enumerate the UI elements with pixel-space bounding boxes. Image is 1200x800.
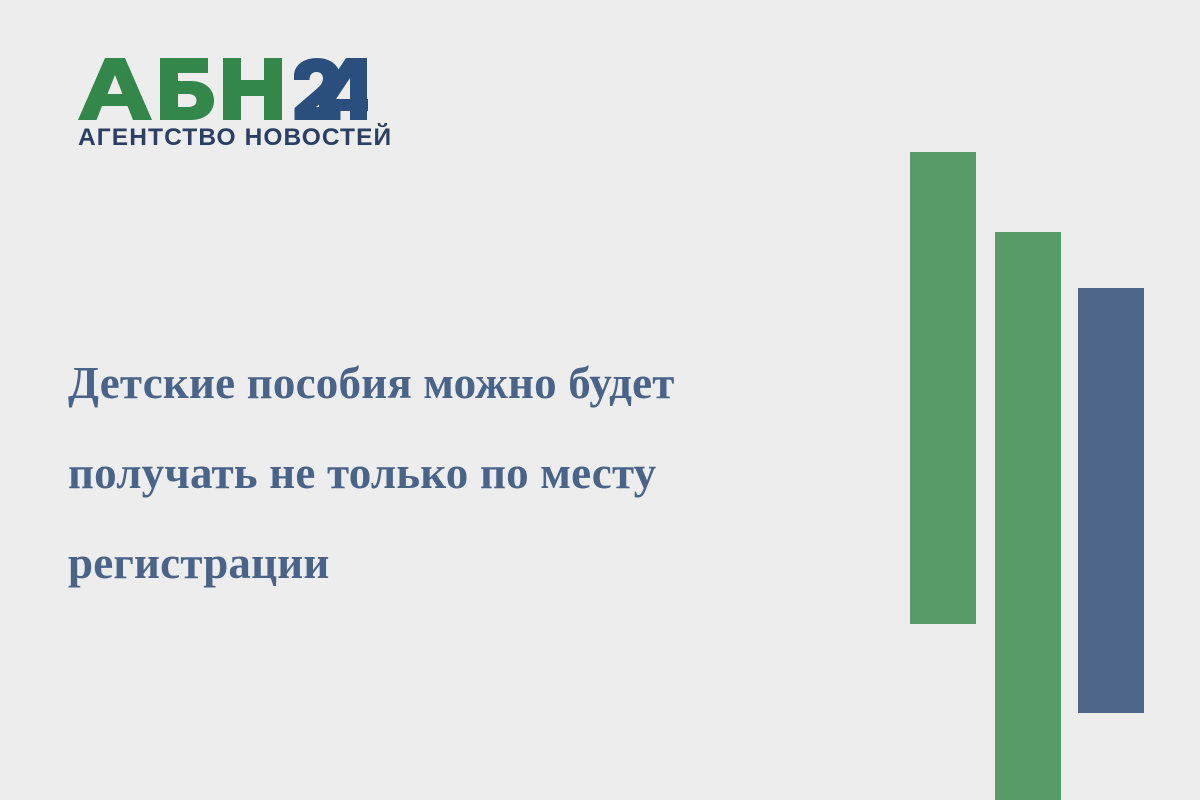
headline-line-1: Детские пособия можно будет xyxy=(68,338,868,428)
logo-wordmark-icon xyxy=(78,58,368,120)
bar-1 xyxy=(910,152,976,624)
abn24-logo[interactable]: АГЕНТСТВО НОВОСТЕЙ xyxy=(78,58,368,158)
logo-tagline: АГЕНТСТВО НОВОСТЕЙ xyxy=(78,124,392,152)
logo-wordmark xyxy=(78,58,368,120)
bar-2 xyxy=(995,232,1061,800)
bar-3 xyxy=(1078,288,1144,713)
headline-line-2: получать не только по месту xyxy=(68,428,868,518)
headline: Детские пособия можно будет получать не … xyxy=(68,338,868,608)
news-card: АГЕНТСТВО НОВОСТЕЙ Детские пособия можно… xyxy=(0,0,1200,800)
headline-line-3: регистрации xyxy=(68,518,868,608)
